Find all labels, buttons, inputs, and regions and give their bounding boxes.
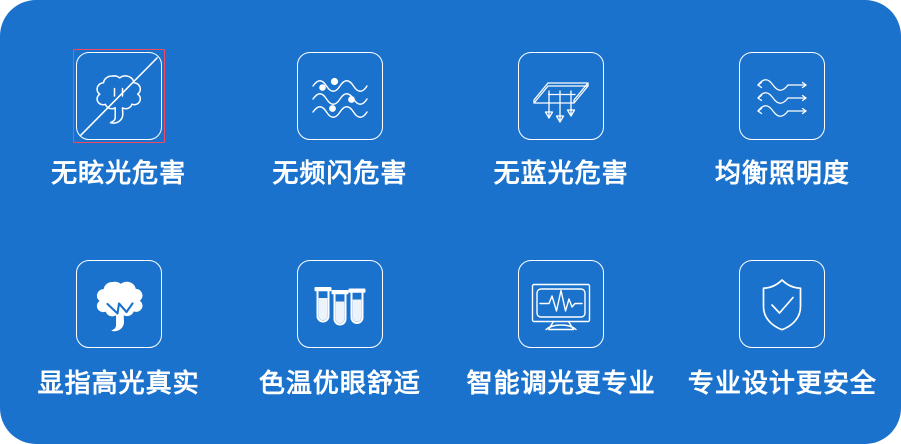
feature-label: 专业设计更安全: [688, 370, 877, 396]
feature-item-color-temperature[interactable]: 色温优眼舒适: [229, 224, 450, 430]
icon-wrapper[interactable]: [739, 52, 825, 140]
feature-item-no-glare[interactable]: 无眩光危害: [8, 18, 229, 224]
feature-item-high-cri[interactable]: 显指高光真实: [8, 224, 229, 430]
monitor-waveform-icon: [518, 260, 604, 348]
feature-item-uniform-illumination[interactable]: 均衡照明度: [672, 18, 893, 224]
no-flicker-wave-icon: [297, 52, 383, 140]
icon-wrapper[interactable]: [297, 260, 383, 348]
uniform-illumination-waves-icon: [739, 52, 825, 140]
feature-label: 色温优眼舒适: [259, 370, 421, 396]
no-glare-icon: [76, 52, 162, 140]
feature-item-smart-dimming[interactable]: 智能调光更专业: [451, 224, 672, 430]
icon-wrapper[interactable]: [518, 260, 604, 348]
feature-label: 无频闪危害: [272, 160, 407, 186]
feature-grid: 无眩光危害: [0, 0, 901, 444]
cotton-boll-icon: [76, 260, 162, 348]
feature-item-no-blue-light[interactable]: 无蓝光危害: [451, 18, 672, 224]
no-blue-light-panel-icon: [518, 52, 604, 140]
feature-label: 无眩光危害: [51, 160, 186, 186]
shield-check-icon: [739, 260, 825, 348]
feature-label: 显指高光真实: [38, 370, 200, 396]
feature-label: 均衡照明度: [715, 160, 850, 186]
icon-wrapper[interactable]: [739, 260, 825, 348]
test-tubes-icon: [297, 260, 383, 348]
feature-item-safe-design[interactable]: 专业设计更安全: [672, 224, 893, 430]
feature-label: 无蓝光危害: [494, 160, 629, 186]
icon-wrapper[interactable]: [297, 52, 383, 140]
feature-item-no-flicker[interactable]: 无频闪危害: [229, 18, 450, 224]
icon-wrapper[interactable]: [76, 260, 162, 348]
feature-panel: 无眩光危害: [0, 0, 901, 444]
feature-label: 智能调光更专业: [467, 370, 656, 396]
icon-wrapper[interactable]: [518, 52, 604, 140]
icon-wrapper[interactable]: [76, 52, 162, 140]
